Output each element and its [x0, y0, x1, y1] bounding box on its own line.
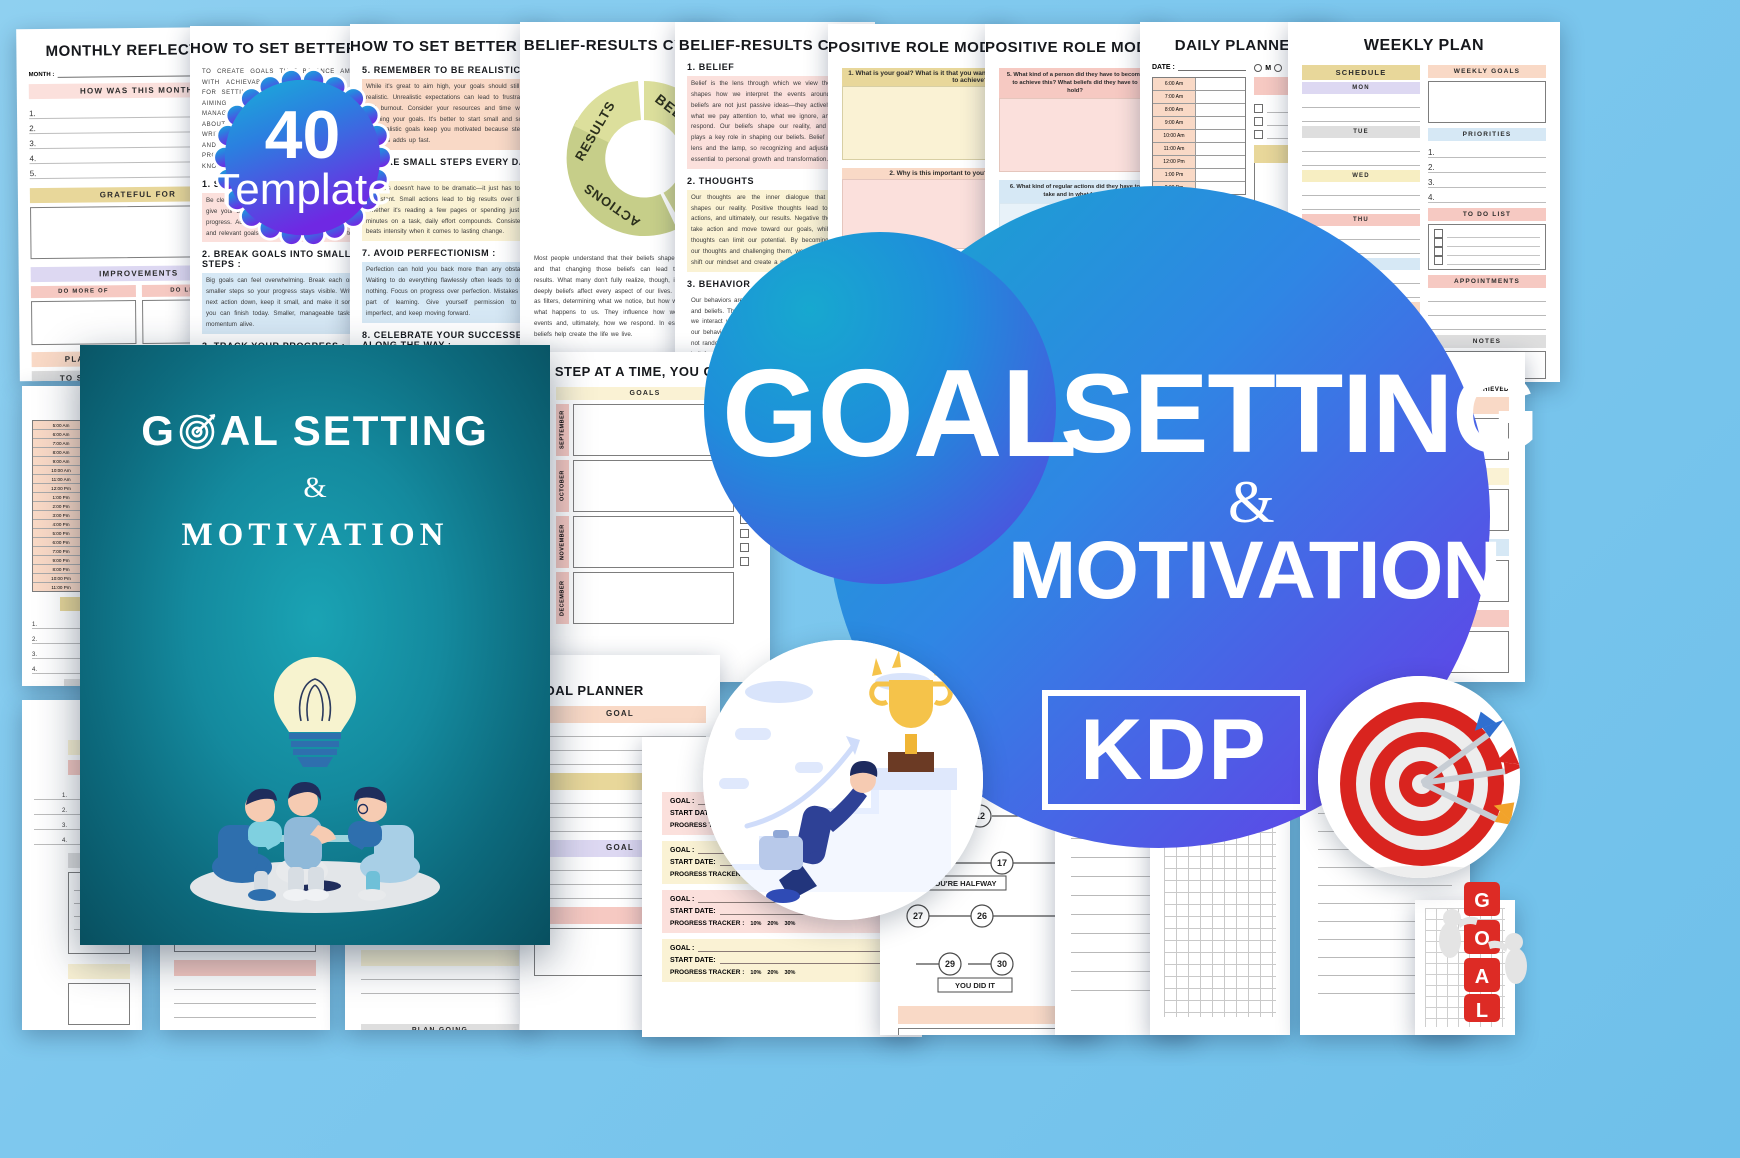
- text-area[interactable]: [31, 300, 136, 345]
- photo-climbing-stairs: [703, 640, 983, 920]
- body-paragraph: Perfection can hold you back more than a…: [362, 262, 534, 322]
- hero-title-goal: GOAL: [722, 352, 1076, 476]
- day-header: MON: [1302, 82, 1420, 94]
- section-header: APPOINTMENTS: [1428, 275, 1546, 288]
- section-header: WEEKLY GOALS: [1428, 65, 1546, 78]
- cover-title: G AL SETTING: [80, 407, 550, 455]
- svg-text:O: O: [1474, 928, 1490, 950]
- schedule-header: SCHEDULE: [1302, 65, 1420, 80]
- svg-text:L: L: [1476, 1000, 1488, 1022]
- body-paragraph: Big goals can feel overwhelming. Break e…: [202, 273, 374, 333]
- answer-area[interactable]: [842, 86, 994, 160]
- photo-dartboard: [1318, 676, 1520, 878]
- template-count-badge: 40 Template: [210, 65, 395, 250]
- svg-text:G: G: [1474, 890, 1490, 912]
- section-heading: 2. BREAK GOALS INTO SMALLER STEPS :: [202, 249, 374, 269]
- page-title: POSITIVE ROLE MODEL: [828, 39, 1008, 56]
- page-title: HOW TO SET BETTER GOALS: [350, 38, 546, 55]
- day-header: WED: [1302, 170, 1420, 182]
- question-header: 2. Why is this important to you?: [842, 168, 994, 179]
- cover-ampersand: &: [80, 471, 550, 505]
- svg-text:30: 30: [997, 959, 1007, 969]
- month-label: OCTOBER: [556, 460, 569, 512]
- day-header: TUE: [1302, 126, 1420, 138]
- question-header: 5. What kind of a person did they have t…: [999, 68, 1151, 98]
- svg-text:26: 26: [977, 911, 987, 921]
- section-header: GOAL: [534, 706, 706, 723]
- hero-title-motivation: MOTIVATION: [1008, 530, 1501, 612]
- page-title: GOAL PLANNER: [520, 683, 720, 698]
- badge-word: Template: [213, 168, 392, 212]
- svg-text:29: 29: [945, 959, 955, 969]
- day-header: THU: [1302, 214, 1420, 226]
- page-title: POSITIVE ROLE MODEL: [985, 39, 1165, 56]
- svg-text:YOU DID IT: YOU DID IT: [955, 981, 995, 990]
- svg-text:17: 17: [997, 858, 1007, 868]
- hour-schedule-table[interactable]: 6:00 Am 7:00 Am 8:00 Am 9:00 Am 10:00 Am…: [1152, 77, 1246, 195]
- cover-illustration-meeting: [150, 639, 480, 919]
- month-label: NOVEMBER: [556, 516, 569, 568]
- goal-progress-row[interactable]: GOAL : START DATE: PROGRESS TRACKER : 10…: [662, 939, 902, 982]
- kdp-badge: KDP: [1042, 690, 1306, 810]
- section-header: PRIORITIES: [1428, 128, 1546, 141]
- numbered-list[interactable]: 1. 2. 3. 4.: [1428, 143, 1546, 203]
- answer-area[interactable]: [999, 98, 1151, 172]
- hero-title-setting: SETTING: [1060, 358, 1538, 470]
- month-label: DECEMBER: [556, 572, 569, 624]
- book-cover[interactable]: G AL SETTING & MOTIVATION: [80, 345, 550, 945]
- badge-count: 40: [265, 103, 341, 168]
- svg-text:A: A: [1475, 966, 1489, 988]
- svg-text:27: 27: [913, 911, 923, 921]
- promo-graphic: MONTHLY REFLECTION MONTH : HOW WAS THIS …: [0, 0, 1740, 1158]
- cover-subtitle: MOTIVATION: [80, 517, 550, 554]
- kdp-label: KDP: [1080, 707, 1268, 793]
- target-icon: [178, 411, 218, 451]
- question-header: 1. What is your goal? What is it that yo…: [842, 68, 994, 86]
- text-area[interactable]: [1428, 81, 1546, 123]
- section-header: PLAN GOING: [361, 1024, 519, 1030]
- section-header: NOTES: [1428, 335, 1546, 348]
- page-title: WEEKLY PLAN: [1288, 37, 1560, 55]
- month-label: SEPTEMBER: [556, 404, 569, 456]
- photo-goal-blocks: GOAL: [1430, 876, 1540, 1026]
- date-field[interactable]: DATE :: [1152, 64, 1246, 71]
- section-header: DO MORE OF: [31, 285, 136, 298]
- checkbox-list[interactable]: [1428, 224, 1546, 270]
- section-header: TO DO LIST: [1428, 208, 1546, 221]
